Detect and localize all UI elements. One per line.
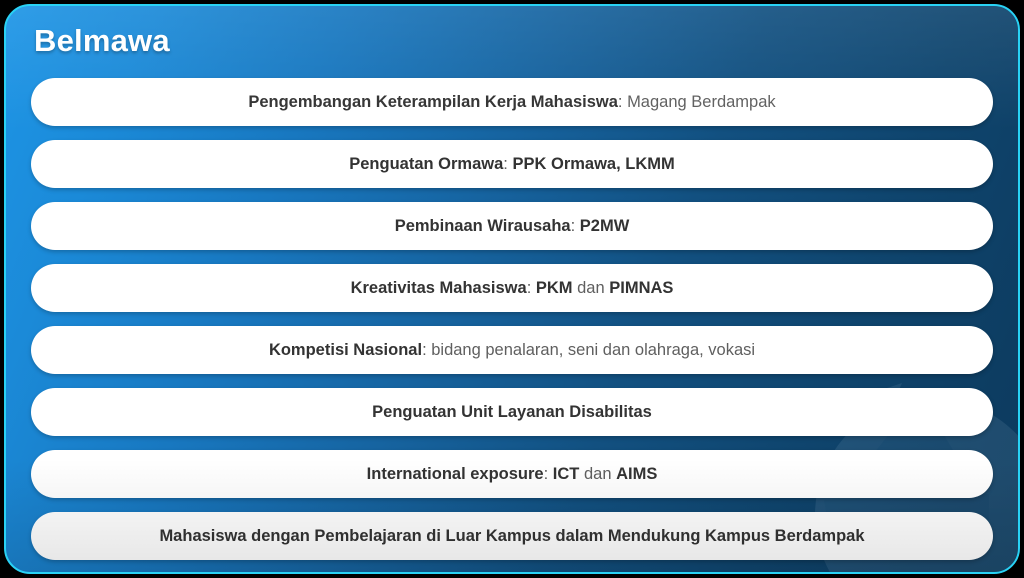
list-item[interactable]: Penguatan Unit Layanan Disabilitas: [31, 388, 993, 436]
page-title: Belmawa: [34, 23, 170, 59]
list-item-conjunction: dan: [579, 465, 616, 483]
list-item[interactable]: Pembinaan Wirausaha: P2MW: [31, 202, 993, 250]
list-item-bold: Penguatan Ormawa: [349, 155, 503, 173]
list-item-label: Penguatan Ormawa: PPK Ormawa, LKMM: [349, 156, 675, 173]
list-item-label: Kreativitas Mahasiswa: PKM dan PIMNAS: [351, 280, 674, 297]
list-item-bold-2: P2MW: [580, 217, 630, 235]
list-item-bold: Pengembangan Keterampilan Kerja Mahasisw…: [248, 93, 618, 111]
list-item-bold-2: PKM: [536, 279, 573, 297]
list-item-label: International exposure: ICT dan AIMS: [367, 466, 658, 483]
list-item-separator: :: [422, 341, 431, 359]
list-item-bold: International exposure: [367, 465, 544, 483]
program-list: Pengembangan Keterampilan Kerja Mahasisw…: [6, 78, 1018, 560]
list-item[interactable]: Penguatan Ormawa: PPK Ormawa, LKMM: [31, 140, 993, 188]
list-item-label: Pengembangan Keterampilan Kerja Mahasisw…: [248, 94, 775, 111]
list-item-bold-3: AIMS: [616, 465, 657, 483]
list-item-label: Pembinaan Wirausaha: P2MW: [395, 218, 630, 235]
slide-root: Belmawa Pengembangan Keterampilan Kerja …: [0, 0, 1024, 578]
list-item-bold: Mahasiswa dengan Pembelajaran di Luar Ka…: [159, 527, 864, 545]
list-item-label: Kompetisi Nasional: bidang penalaran, se…: [269, 342, 755, 359]
list-item-bold-2: ICT: [553, 465, 580, 483]
list-item-bold-3: PIMNAS: [609, 279, 673, 297]
list-item-regular: bidang penalaran, seni dan olahraga, vok…: [431, 341, 755, 359]
list-item-separator: :: [527, 279, 536, 297]
list-item[interactable]: Pengembangan Keterampilan Kerja Mahasisw…: [31, 78, 993, 126]
list-item-bold: Penguatan Unit Layanan Disabilitas: [372, 403, 652, 421]
list-item-label: Penguatan Unit Layanan Disabilitas: [372, 404, 652, 421]
list-item-bold: Kreativitas Mahasiswa: [351, 279, 527, 297]
list-item[interactable]: Kompetisi Nasional: bidang penalaran, se…: [31, 326, 993, 374]
list-item-separator: :: [571, 217, 580, 235]
list-item-bold: Kompetisi Nasional: [269, 341, 422, 359]
list-item[interactable]: Mahasiswa dengan Pembelajaran di Luar Ka…: [31, 512, 993, 560]
list-item[interactable]: Kreativitas Mahasiswa: PKM dan PIMNAS: [31, 264, 993, 312]
list-item-bold-2: PPK Ormawa, LKMM: [512, 155, 674, 173]
list-item[interactable]: International exposure: ICT dan AIMS: [31, 450, 993, 498]
list-item-label: Mahasiswa dengan Pembelajaran di Luar Ka…: [159, 528, 864, 545]
list-item-separator: :: [618, 93, 627, 111]
belmawa-card: Belmawa Pengembangan Keterampilan Kerja …: [4, 4, 1020, 574]
list-item-conjunction: dan: [573, 279, 610, 297]
list-item-regular: Magang Berdampak: [627, 93, 776, 111]
list-item-separator: :: [544, 465, 553, 483]
list-item-bold: Pembinaan Wirausaha: [395, 217, 571, 235]
